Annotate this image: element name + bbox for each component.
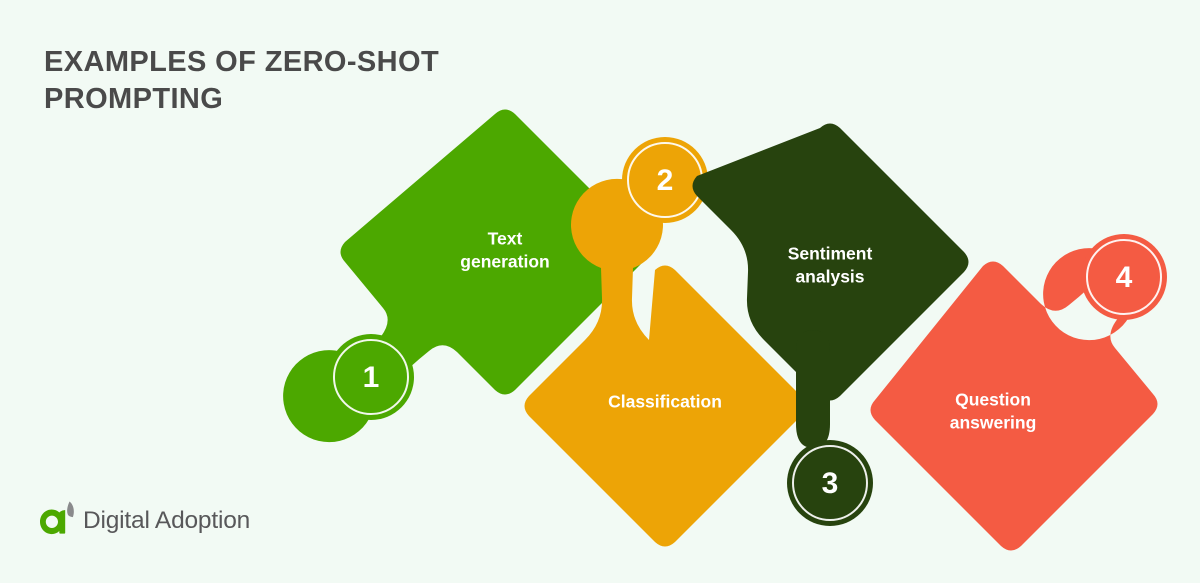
brand-logo[interactable]: Digital Adoption (40, 500, 250, 542)
steps-diagram: 1 Text generation 2 Classification 3 (0, 0, 1200, 583)
step-label-2-line1: Classification (608, 392, 722, 412)
step-badge-number-1: 1 (363, 361, 380, 394)
step-label-1-line1: Text (488, 229, 523, 249)
step-label-4-line1: Question (955, 390, 1031, 410)
logo-leaf-shape (67, 502, 74, 518)
step-tail-3 (796, 330, 830, 448)
step-badge-number-4: 4 (1116, 261, 1133, 294)
brand-name: Digital Adoption (83, 509, 250, 534)
step-badge-number-2: 2 (657, 164, 674, 197)
step-label-1-line2: generation (460, 252, 549, 272)
infographic-root: EXAMPLES OF ZERO-SHOT PROMPTING 1 Text g… (0, 0, 1200, 583)
diagram-stage: 1 Text generation 2 Classification 3 (0, 0, 1200, 583)
step-label-3-line1: Sentiment (788, 244, 873, 264)
step-badge-number-3: 3 (822, 467, 839, 500)
logo-a-shape (40, 510, 65, 535)
step-label-4-line2: answering (950, 413, 1037, 433)
digital-adoption-logo-icon (40, 500, 76, 542)
step-label-3-line2: analysis (795, 267, 864, 287)
